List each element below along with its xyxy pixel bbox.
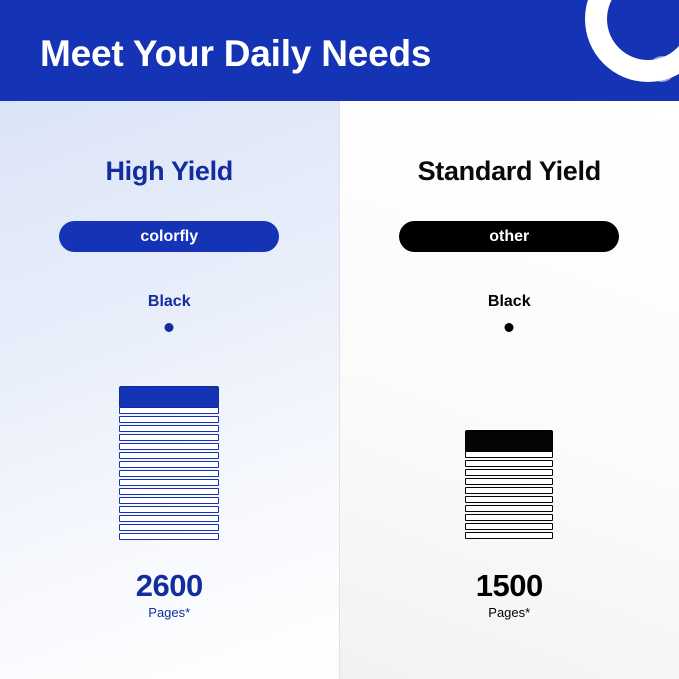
panel-standard-yield: Standard Yield other Black 1500 Pages* bbox=[340, 101, 679, 679]
color-label-standard-yield: Black bbox=[340, 293, 679, 311]
comparison-panels: High Yield colorfly Black bbox=[0, 101, 679, 679]
brand-badge-label: other bbox=[489, 228, 529, 246]
pages-value-standard-yield: 1500 bbox=[340, 568, 679, 604]
pages-caption-standard-yield: Pages* bbox=[340, 605, 679, 620]
pages-caption-high-yield: Pages* bbox=[0, 605, 339, 620]
brand-badge-other: other bbox=[399, 221, 619, 252]
infographic-page: Meet Your Daily Needs High Yield colorfl… bbox=[0, 0, 679, 679]
color-swatch-dot-black bbox=[165, 323, 174, 332]
brand-badge-colorfly: colorfly bbox=[59, 221, 279, 252]
decorative-circle-dot bbox=[649, 56, 675, 82]
panel-heading-standard-yield: Standard Yield bbox=[340, 156, 679, 187]
page-title: Meet Your Daily Needs bbox=[40, 33, 431, 75]
color-label-high-yield: Black bbox=[0, 293, 339, 311]
paper-stack-standard-yield bbox=[465, 438, 553, 538]
panel-high-yield: High Yield colorfly Black bbox=[0, 101, 340, 679]
color-swatch-dot-black bbox=[505, 323, 514, 332]
header-banner: Meet Your Daily Needs bbox=[0, 0, 679, 101]
brand-badge-label: colorfly bbox=[140, 228, 198, 246]
paper-stack-high-yield bbox=[119, 390, 219, 540]
pages-value-high-yield: 2600 bbox=[0, 568, 339, 604]
panel-heading-high-yield: High Yield bbox=[0, 156, 339, 187]
